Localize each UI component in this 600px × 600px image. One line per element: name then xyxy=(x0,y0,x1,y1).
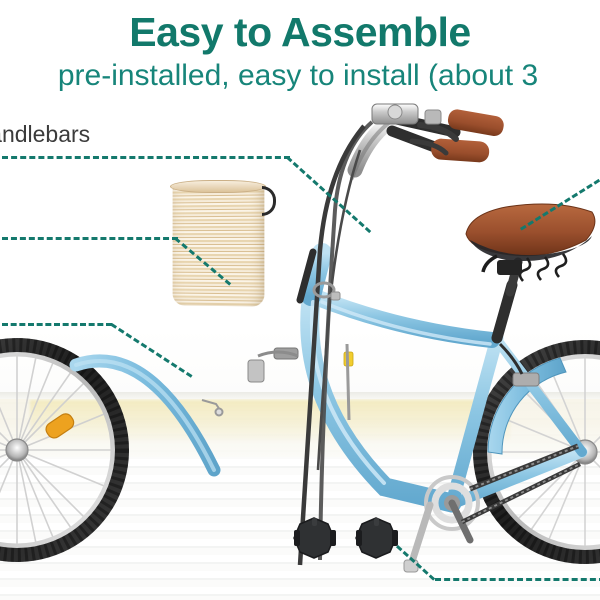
front-fender-bracket xyxy=(202,400,223,416)
pedal-left xyxy=(294,518,336,558)
leader-line-basket xyxy=(2,237,178,240)
leader-line-handlebars xyxy=(2,156,290,159)
pedal-right xyxy=(356,518,398,558)
basket-rim xyxy=(170,180,266,193)
page-subtitle: pre-installed, easy to install (about 3 xyxy=(0,57,600,95)
callout-label-handlebars: the handlebars xyxy=(0,120,90,148)
leader-line-fender xyxy=(2,323,112,326)
reflector-icon xyxy=(43,411,76,440)
saddle xyxy=(466,204,595,281)
product-infographic: Easy to Assemble pre-installed, easy to … xyxy=(0,0,600,600)
page-title: Easy to Assemble xyxy=(0,8,600,56)
front-wheel xyxy=(0,345,122,555)
leader-line-pedals xyxy=(435,578,600,581)
